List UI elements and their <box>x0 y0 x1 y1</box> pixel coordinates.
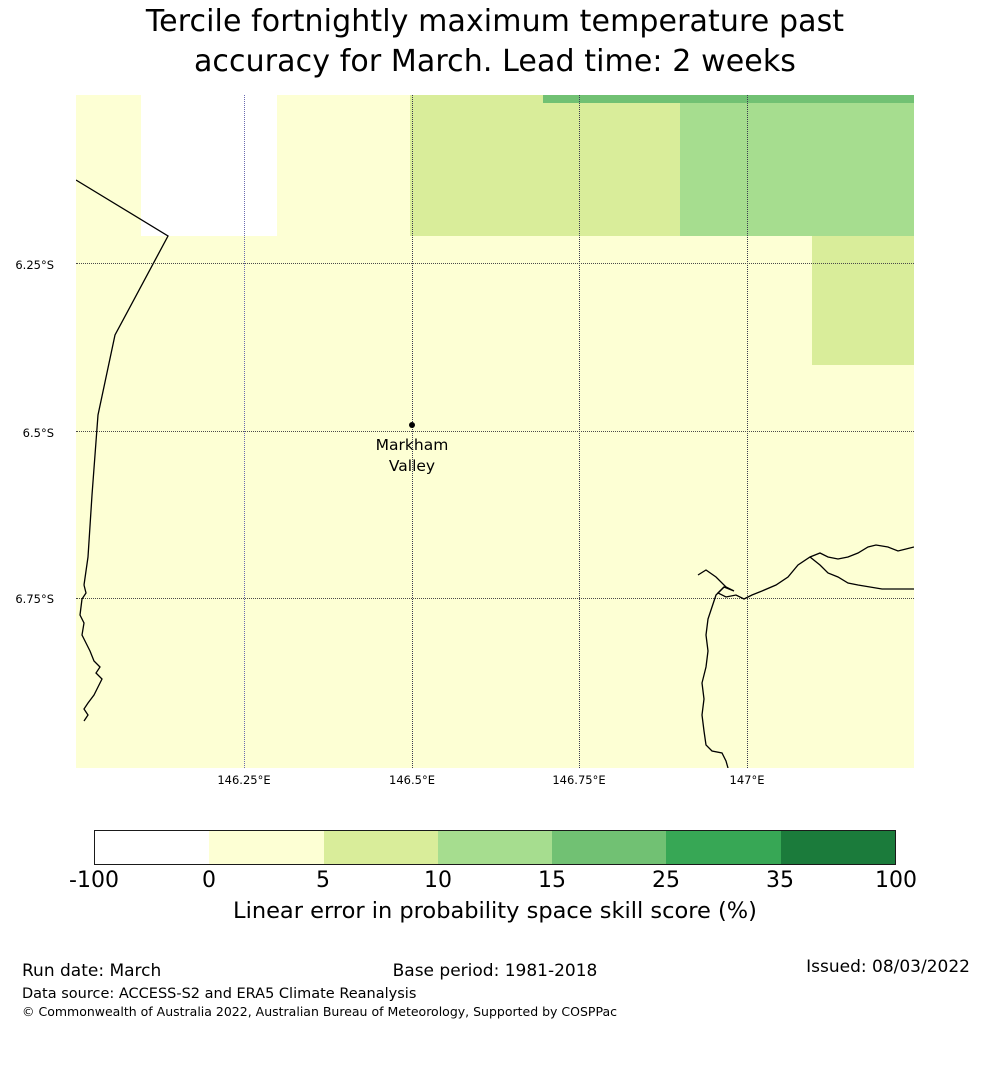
colorbar-segment-2 <box>324 831 438 864</box>
colorbar-tick-label: 100 <box>836 868 956 893</box>
title-line-2: accuracy for March. Lead time: 2 weeks <box>0 42 990 82</box>
footer-copyright: © Commonwealth of Australia 2022, Austra… <box>22 1004 617 1019</box>
title-line-1: Tercile fortnightly maximum temperature … <box>0 2 990 42</box>
page-title: Tercile fortnightly maximum temperature … <box>0 0 990 82</box>
x-axis-tick-label: 146.75°E <box>519 773 639 787</box>
colorbar-segment-5 <box>666 831 780 864</box>
footer-issued-date: Issued: 08/03/2022 <box>806 957 970 977</box>
colorbar[interactable] <box>94 830 896 865</box>
y-axis-tick-label: 6.25°S <box>15 258 54 272</box>
colorbar-tick-label: 35 <box>720 868 840 893</box>
station-name-line-1: Markham <box>327 435 497 456</box>
x-axis-tick-label: 146.5°E <box>352 773 472 787</box>
colorbar-tick-label: 5 <box>263 868 383 893</box>
colorbar-segment-4 <box>552 831 666 864</box>
map-raster-canvas: Markham Valley <box>76 95 914 768</box>
y-axis-tick-label: 6.75°S <box>15 592 54 606</box>
station-marker-icon <box>409 422 415 428</box>
x-axis-tick-label: 146.25°E <box>184 773 304 787</box>
colorbar-segment-3 <box>438 831 552 864</box>
x-axis-tick-label: 147°E <box>687 773 807 787</box>
colorbar-tick-label: 15 <box>492 868 612 893</box>
y-axis-tick-label: 6.5°S <box>23 426 54 440</box>
footer-data-source: Data source: ACCESS-S2 and ERA5 Climate … <box>22 986 416 1002</box>
colorbar-tick-label: -100 <box>34 868 154 893</box>
colorbar-title: Linear error in probability space skill … <box>0 898 990 924</box>
colorbar-tick-label: 0 <box>149 868 269 893</box>
colorbar-segment-0 <box>95 831 209 864</box>
station-label: Markham Valley <box>327 435 497 477</box>
colorbar-segment-1 <box>209 831 323 864</box>
map-plot-area[interactable]: Markham Valley <box>76 95 914 768</box>
colorbar-tick-label: 10 <box>378 868 498 893</box>
colorbar-segment-6 <box>781 831 895 864</box>
station-name-line-2: Valley <box>327 456 497 477</box>
coastline-overlay <box>76 95 914 768</box>
colorbar-tick-label: 25 <box>606 868 726 893</box>
